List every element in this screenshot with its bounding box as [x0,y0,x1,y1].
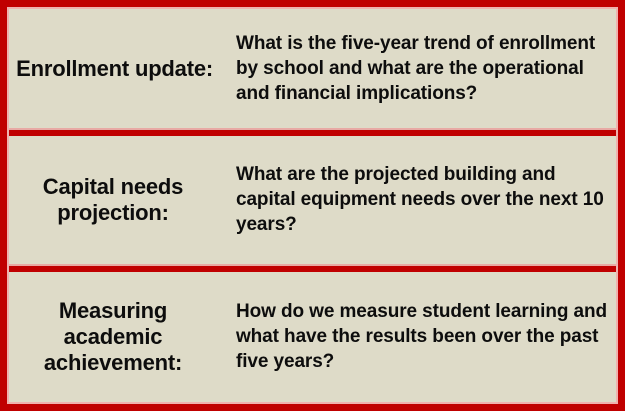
row-label-line: Capital needs [13,174,213,200]
matrix-rows: Enrollment update: What is the five-year… [9,9,616,402]
border-bottom [0,404,625,411]
border-highlight-left [7,7,9,404]
row-question-enrollment-update: What is the five-year trend of enrollmen… [223,31,616,107]
row-label-line: Enrollment update: [13,56,213,82]
row-label-line: achievement: [13,350,213,376]
row-question-line: what have the results been over the past [236,324,610,349]
row-question-line: and financial implications? [236,81,610,106]
row-question-capital-needs-projection: What are the projected building and capi… [223,162,616,238]
row-question-line: years? [236,212,610,237]
row-question-line: How do we measure student learning and [236,299,610,324]
row-label-line: projection: [13,200,213,226]
matrix-row-capital-needs-projection: Capital needs projection: What are the p… [9,136,616,264]
row-question-line: capital equipment needs over the next 10 [236,187,610,212]
border-top [0,0,625,7]
matrix-row-measuring-academic-achievement: Measuring academic achievement: How do w… [9,272,616,402]
row-question-line: by school and what are the operational [236,56,610,81]
matrix-row-enrollment-update: Enrollment update: What is the five-year… [9,9,616,128]
row-question-line: What are the projected building and [236,162,610,187]
questions-matrix-graphic: Enrollment update: What is the five-year… [0,0,625,411]
row-label-measuring-academic-achievement: Measuring academic achievement: [9,298,223,375]
row-label-line: Measuring [13,298,213,324]
row-question-measuring-academic-achievement: How do we measure student learning and w… [223,299,616,375]
row-divider-2 [9,264,616,272]
row-label-line: academic [13,324,213,350]
row-question-line: five years? [236,349,610,374]
row-question-line: What is the five-year trend of enrollmen… [236,31,610,56]
border-left [0,0,7,411]
row-divider-1 [9,128,616,136]
row-label-enrollment-update: Enrollment update: [9,56,223,82]
border-right [618,0,625,411]
border-highlight-top [7,7,618,9]
row-label-capital-needs-projection: Capital needs projection: [9,174,223,225]
